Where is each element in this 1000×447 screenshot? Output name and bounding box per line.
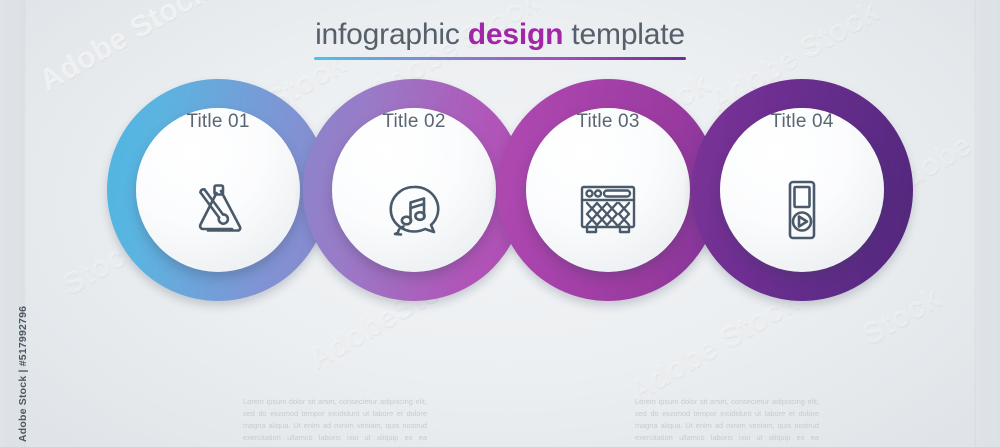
mp3-player-icon [767,175,837,245]
infographic-canvas: Adobe Stock AdobeStock Adobe Stock Adobe… [0,0,1000,447]
step-card-3[interactable]: Title 03 [497,79,719,301]
title-word-design: design [468,18,563,51]
triangle-instrument-icon [183,175,253,245]
title-underline-divider [314,57,686,60]
steps-container: Title 01 Lorem ipsum dolor sit a [0,79,1000,319]
step-description-main-1: Lorem ipsum dolor sit amet, consectetur … [243,397,427,447]
step-title-3: Title 03 [497,111,719,133]
step-title-4: Title 04 [691,111,913,133]
page-title: infographic design template [0,20,1000,60]
step-title-1: Title 01 [107,111,329,133]
title-word-infographic: infographic [315,18,468,51]
step-description-2: Lorem ipsum dolor sit amet, consectetur … [635,396,819,447]
guitar-amplifier-icon [573,175,643,245]
step-description-1: Lorem ipsum dolor sit amet, consectetur … [243,396,427,447]
step-card-2[interactable]: Title 02 Lorem ipsum dolor sit amet, con… [303,79,525,301]
step-title-2: Title 02 [303,111,525,133]
step-card-4[interactable]: Title 04 Lorem ipsum dolor sit amet, con… [691,79,913,301]
step-card-1[interactable]: Title 01 Lorem ipsum dolor sit a [107,79,329,301]
step-description-main-2: Lorem ipsum dolor sit amet, consectetur … [635,397,819,447]
music-note-speech-bubble-icon [379,175,449,245]
title-word-template: template [563,18,685,51]
